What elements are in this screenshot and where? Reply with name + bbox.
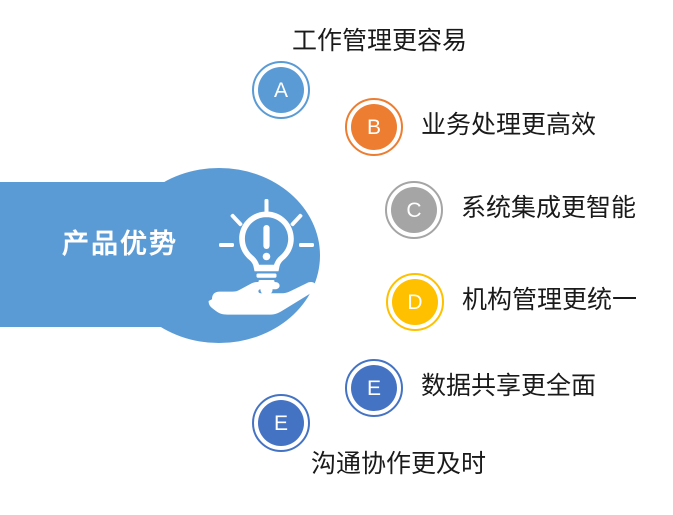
node-circle-b[interactable]: B <box>345 98 403 156</box>
node-letter: D <box>386 273 444 331</box>
slide-canvas: 产品优势 <box>0 0 673 515</box>
node-letter: E <box>252 394 310 452</box>
node-circle-e[interactable]: E <box>345 359 403 417</box>
hand-holding-lightbulb-icon <box>208 192 326 320</box>
item-label-c: 系统集成更智能 <box>461 194 636 223</box>
product-advantage-banner[interactable]: 产品优势 <box>0 168 330 343</box>
node-letter: C <box>385 181 443 239</box>
node-circle-f[interactable]: E <box>252 394 310 452</box>
item-label-f: 沟通协作更及时 <box>311 450 486 479</box>
node-letter: E <box>345 359 403 417</box>
node-letter: B <box>345 98 403 156</box>
node-circle-d[interactable]: D <box>386 273 444 331</box>
node-circle-c[interactable]: C <box>385 181 443 239</box>
banner-title: 产品优势 <box>30 230 210 260</box>
node-circle-a[interactable]: A <box>252 61 310 119</box>
item-label-d: 机构管理更统一 <box>462 286 637 315</box>
item-label-b: 业务处理更高效 <box>421 111 596 140</box>
item-label-a: 工作管理更容易 <box>292 27 467 56</box>
node-letter: A <box>252 61 310 119</box>
item-label-e: 数据共享更全面 <box>421 372 596 401</box>
